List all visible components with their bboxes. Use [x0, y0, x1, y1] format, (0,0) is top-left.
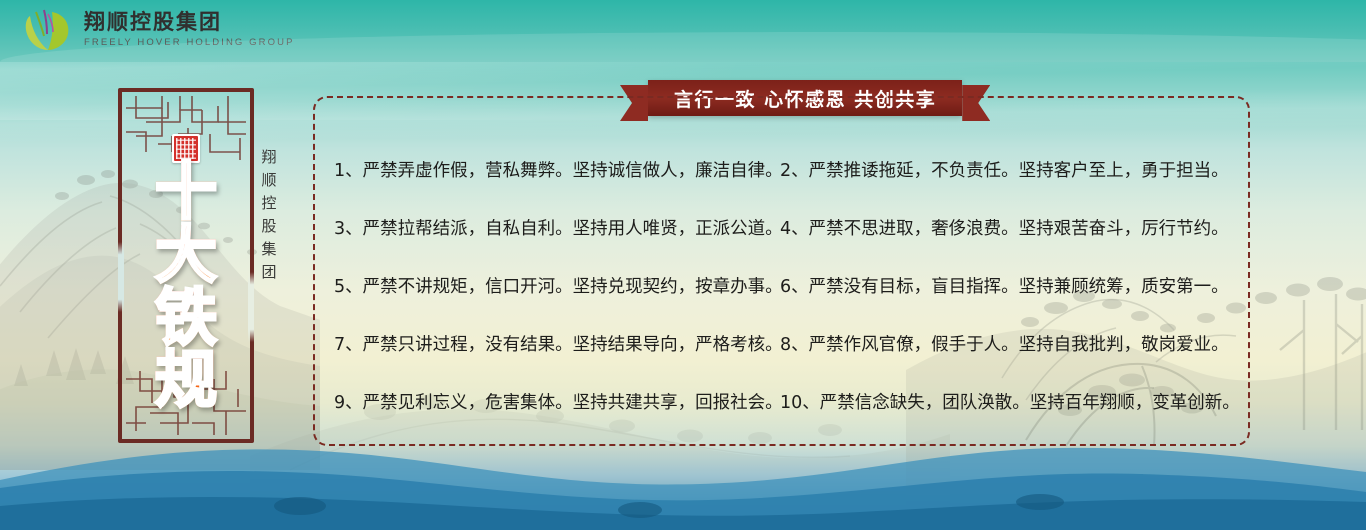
- title-char-1: 十: [155, 162, 217, 223]
- side-char-4: 股: [261, 219, 276, 234]
- side-char-5: 集: [261, 242, 276, 257]
- side-char-6: 团: [261, 265, 276, 280]
- leaf-logo-icon: [22, 6, 74, 54]
- brand-text: 翔顺控股集团 FREELY HOVER HOLDING GROUP: [84, 12, 295, 48]
- rules-list: 1、严禁弄虚作假，营私舞弊。坚持诚信做人，廉洁自律。 2、严禁推诿拖延，不负责任…: [320, 140, 1250, 430]
- page-title: 十 大 铁 规: [136, 162, 236, 411]
- brand-block: 翔顺控股集团 FREELY HOVER HOLDING GROUP: [22, 6, 295, 54]
- rule-item-3: 3、严禁拉帮结派，自私自利。坚持用人唯贤，正派公道。: [320, 215, 780, 240]
- rule-item-4: 4、严禁不思进取，奢侈浪费。坚持艰苦奋斗，厉行节约。: [780, 215, 1250, 240]
- side-char-3: 控: [261, 196, 276, 211]
- title-char-2: 大: [155, 225, 217, 286]
- rule-item-5: 5、严禁不讲规矩，信口开河。坚持兑现契约，按章办事。: [320, 273, 780, 298]
- rule-item-8: 8、严禁作风官僚，假手于人。坚持自我批判，敬岗爱业。: [780, 331, 1250, 356]
- rule-item-1: 1、严禁弄虚作假，营私舞弊。坚持诚信做人，廉洁自律。: [320, 157, 780, 182]
- side-char-1: 翔: [261, 150, 276, 165]
- brand-name-cn: 翔顺控股集团: [84, 12, 295, 33]
- brand-name-en: FREELY HOVER HOLDING GROUP: [84, 38, 295, 48]
- poster-canvas: 翔顺控股集团 FREELY HOVER HOLDING GROUP: [0, 0, 1366, 530]
- rule-item-2: 2、严禁推诿拖延，不负责任。坚持客户至上，勇于担当。: [780, 157, 1250, 182]
- rule-item-6: 6、严禁没有目标，盲目指挥。坚持兼顾统筹，质安第一。: [780, 273, 1250, 298]
- vertical-company-label: 翔 顺 控 股 集 团: [258, 150, 280, 280]
- title-frame-panel: 十 大 铁 规: [118, 88, 254, 443]
- title-char-4: 规: [155, 350, 217, 411]
- mountain-range-near: [0, 484, 1366, 530]
- rule-item-7: 7、严禁只讲过程，没有结果。坚持结果导向，严格考核。: [320, 331, 780, 356]
- side-char-2: 顺: [261, 173, 276, 188]
- title-char-3: 铁: [155, 288, 217, 349]
- rule-item-10: 10、严禁信念缺失，团队涣散。坚持百年翔顺，变革创新。: [780, 389, 1250, 414]
- rule-item-9: 9、严禁见利忘义，危害集体。坚持共建共享，回报社会。: [320, 389, 780, 414]
- mountain-range-mid: [0, 448, 1366, 530]
- header-bar: 翔顺控股集团 FREELY HOVER HOLDING GROUP: [0, 0, 1366, 62]
